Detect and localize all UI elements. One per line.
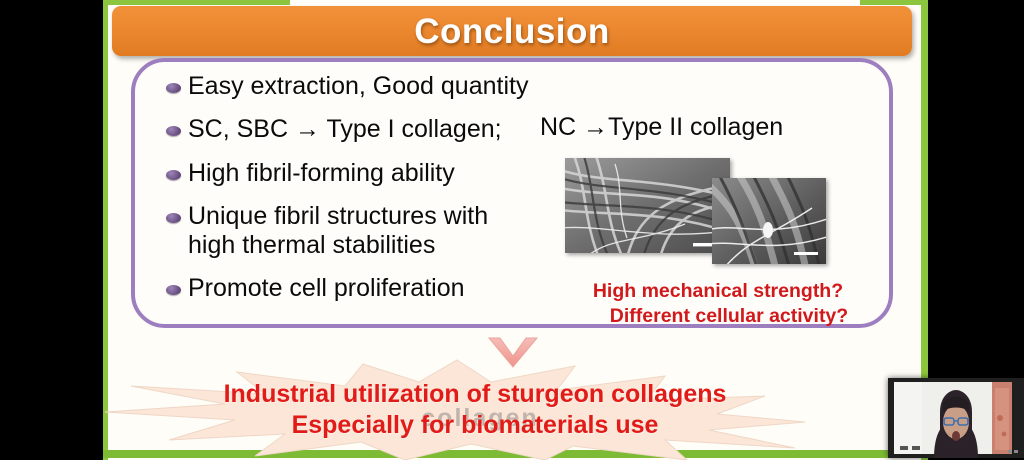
list-item: SC, SBC → Type I collagen;: [166, 115, 586, 144]
sem-micrograph-right: [712, 178, 826, 264]
list-item-label: High fibril-forming ability: [188, 159, 455, 188]
page-title: Conclusion: [414, 14, 610, 49]
callout-line-1: Industrial utilization of sturgeon colla…: [125, 379, 825, 410]
bullet-dot-icon: [166, 285, 181, 295]
slide-border-top-left: [103, 0, 290, 5]
bullet-dot-icon: [166, 126, 181, 136]
slide-border-top-right: [860, 0, 928, 5]
bullet-dot-icon: [166, 83, 181, 93]
callout-line-2: Especially for biomaterials use: [125, 410, 825, 441]
list-item-label-continuation: NC →Type II collagen: [540, 113, 783, 142]
list-item: High fibril-forming ability: [166, 159, 586, 188]
list-item: Unique fibril structures with high therm…: [166, 202, 586, 261]
bullet-dot-icon: [166, 170, 181, 180]
list-item-label: Promote cell proliferation: [188, 274, 465, 303]
open-questions: High mechanical strength? Different cell…: [548, 279, 888, 328]
list-item-label: Easy extraction, Good quantity: [188, 72, 528, 101]
slide-title-bar: Conclusion: [112, 6, 912, 56]
presenter-webcam-overlay[interactable]: [888, 378, 1024, 458]
list-item: Promote cell proliferation: [166, 274, 586, 303]
screen: Conclusion Easy extraction, Good quantit…: [0, 0, 1024, 460]
list-item-label: SC, SBC → Type I collagen;: [188, 115, 502, 144]
question-line-2: Different cellular activity?: [548, 304, 888, 329]
callout-text: Industrial utilization of sturgeon colla…: [125, 379, 825, 441]
bullet-dot-icon: [166, 213, 181, 223]
conclusion-bullet-list: Easy extraction, Good quantity SC, SBC →…: [166, 72, 586, 318]
sem-micrograph-left: [565, 158, 730, 253]
question-line-1: High mechanical strength?: [548, 279, 888, 304]
list-item-label: Unique fibril structures with high therm…: [188, 202, 488, 261]
list-item: Easy extraction, Good quantity: [166, 72, 586, 101]
